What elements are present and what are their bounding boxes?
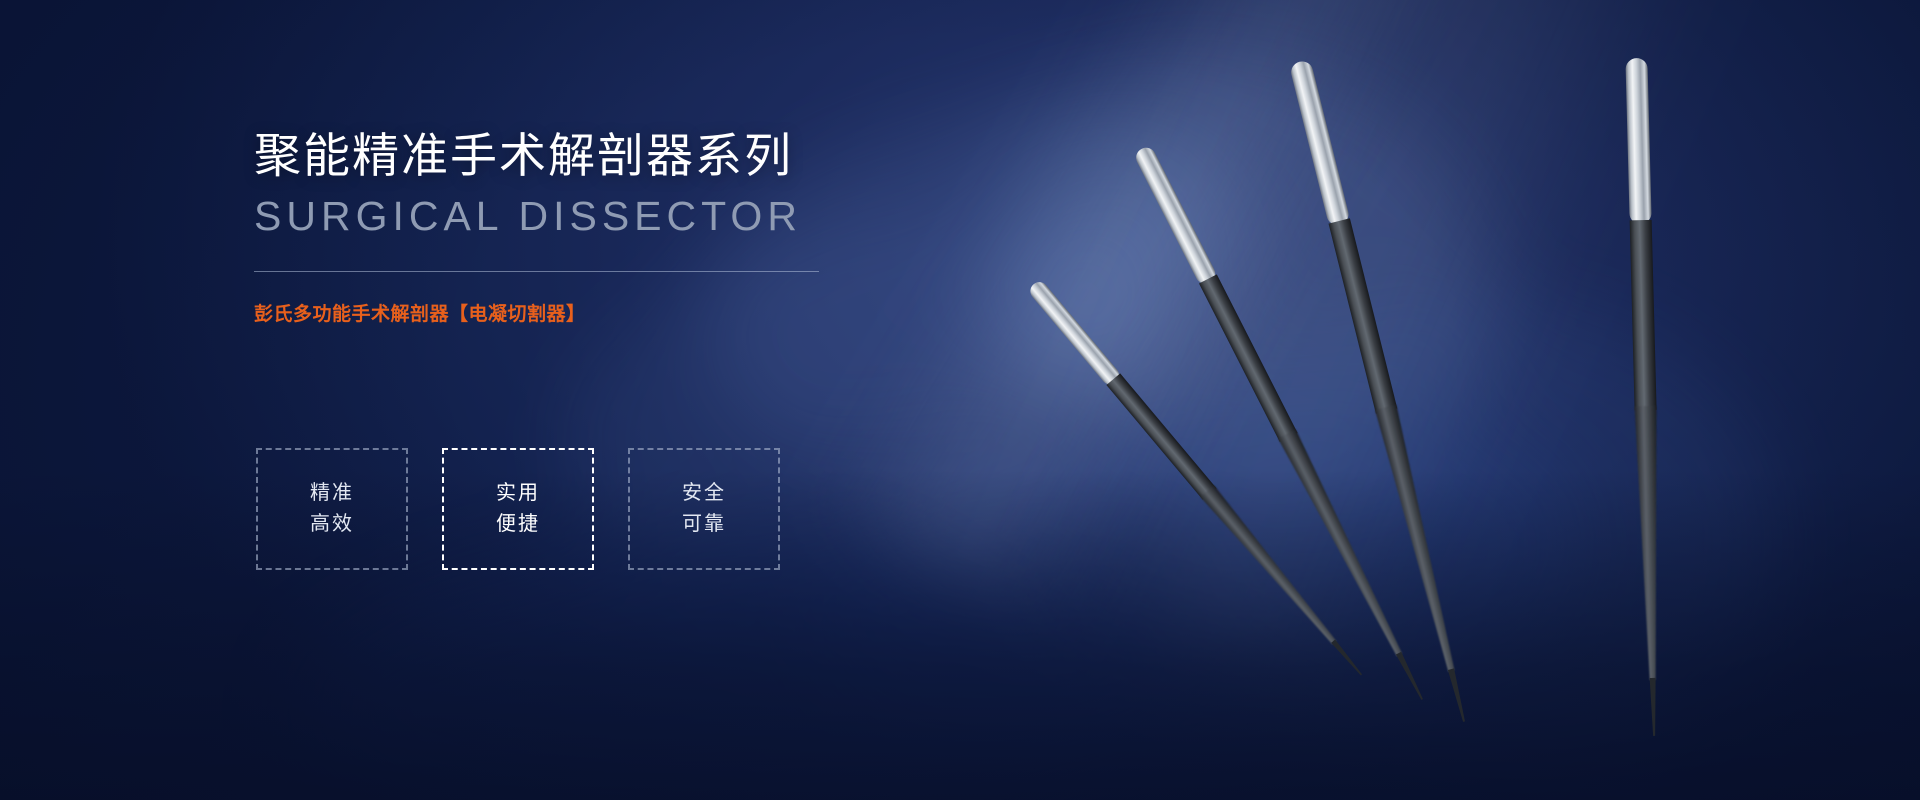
- feature-line-2: 可靠: [682, 509, 726, 540]
- product-name-label: 彭氏多功能手术解剖器【电凝切割器】: [254, 302, 874, 329]
- feature-line-1: 实用: [496, 478, 540, 509]
- feature-line-2: 高效: [310, 509, 354, 540]
- feature-line-1: 精准: [310, 478, 354, 509]
- feature-box-safety[interactable]: 安全 可靠: [628, 448, 780, 570]
- divider: [254, 271, 819, 272]
- product-banner: 聚能精准手术解剖器系列 SURGICAL DISSECTOR 彭氏多功能手术解剖…: [0, 0, 1920, 800]
- page-title: 聚能精准手术解剖器系列: [254, 128, 874, 183]
- banner-text-block: 聚能精准手术解剖器系列 SURGICAL DISSECTOR 彭氏多功能手术解剖…: [254, 128, 874, 328]
- feature-box-group: 精准 高效 实用 便捷 安全 可靠: [256, 448, 780, 570]
- feature-box-precision[interactable]: 精准 高效: [256, 448, 408, 570]
- background-vignette: [0, 0, 1920, 800]
- feature-line-2: 便捷: [496, 509, 540, 540]
- feature-box-practical[interactable]: 实用 便捷: [442, 448, 594, 570]
- page-subtitle-english: SURGICAL DISSECTOR: [254, 193, 874, 240]
- feature-line-1: 安全: [682, 478, 726, 509]
